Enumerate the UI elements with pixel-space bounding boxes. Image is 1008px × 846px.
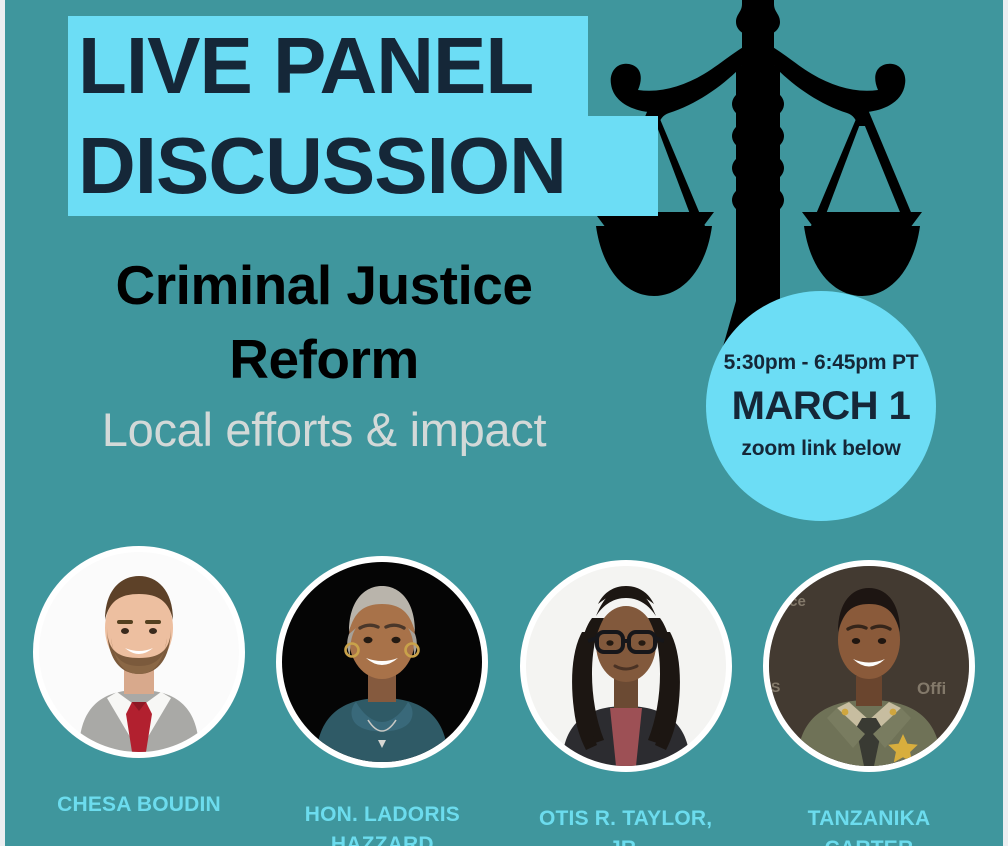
panelist-name: OTIS R. TAYLOR, JR. bbox=[526, 804, 726, 846]
headline: LIVE PANEL DISCUSSION bbox=[68, 16, 668, 216]
portrait-chesa-boudin bbox=[33, 546, 245, 758]
panelist-item: ffice Offi S bbox=[754, 560, 984, 846]
subtitle-line-1: Criminal Justice bbox=[44, 248, 604, 322]
subtitle-tagline: Local efforts & impact bbox=[44, 398, 604, 462]
badge-zoom-note: zoom link below bbox=[741, 436, 900, 462]
panelist-item: HON. LADORIS HAZZARD CORDELL bbox=[267, 556, 497, 846]
badge-time: 5:30pm - 6:45pm PT bbox=[724, 350, 919, 376]
svg-text:Offi: Offi bbox=[917, 679, 946, 698]
subtitle-block: Criminal Justice Reform Local efforts & … bbox=[44, 248, 604, 462]
portrait-otis-r-taylor-jr bbox=[520, 560, 732, 772]
portrait-tanzanika-carter: ffice Offi S bbox=[763, 560, 975, 772]
right-edge-strip bbox=[1003, 0, 1008, 846]
panelist-list: CHESA BOUDIN bbox=[24, 540, 984, 846]
headline-line-2: DISCUSSION bbox=[68, 116, 658, 216]
svg-text:S: S bbox=[771, 679, 780, 695]
left-edge-strip bbox=[0, 0, 5, 846]
date-badge: 5:30pm - 6:45pm PT MARCH 1 zoom link bel… bbox=[706, 291, 936, 521]
portrait-ladoris-hazzard-cordell bbox=[276, 556, 488, 768]
subtitle-line-2: Reform bbox=[44, 322, 604, 396]
svg-text:ffice: ffice bbox=[775, 593, 806, 610]
panelist-item: CHESA BOUDIN bbox=[24, 546, 254, 820]
headline-line-1: LIVE PANEL bbox=[68, 16, 588, 116]
event-flyer: LIVE PANEL DISCUSSION Criminal Justice R… bbox=[0, 0, 1008, 846]
panelist-name: TANZANIKA CARTER bbox=[769, 804, 969, 846]
panelist-item: OTIS R. TAYLOR, JR. bbox=[511, 560, 741, 846]
panelist-name: HON. LADORIS HAZZARD CORDELL bbox=[282, 800, 482, 846]
badge-date: MARCH 1 bbox=[732, 380, 911, 432]
panelist-name: CHESA BOUDIN bbox=[39, 790, 239, 820]
